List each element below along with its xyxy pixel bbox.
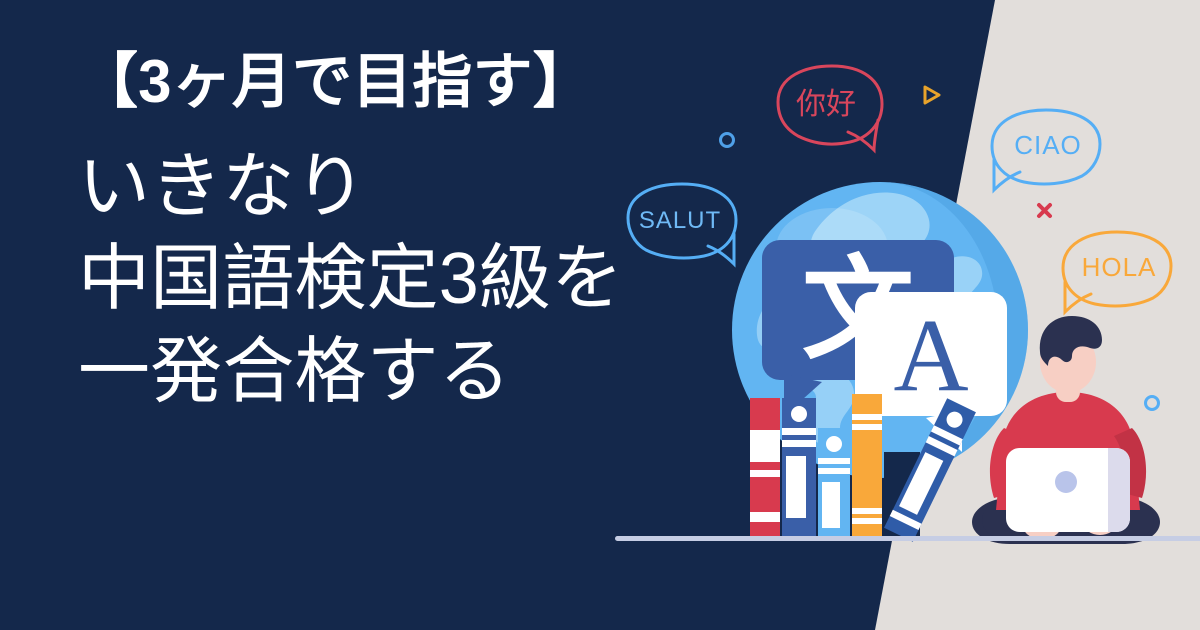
headline-kicker: 【3ヶ月で目指す】: [78, 48, 778, 115]
headline-line-1: いきなり: [78, 141, 778, 233]
triangle-yellow-icon: [925, 87, 939, 103]
cross-red-icon: [1039, 205, 1050, 216]
banner-canvas: 文 A: [0, 0, 1200, 630]
headline-line-3: 一発合格する: [78, 326, 778, 418]
dot-circle-blue-right-icon: [1146, 397, 1159, 410]
headline-line-2: 中国語検定3級を: [78, 233, 778, 325]
headline-block: 【3ヶ月で目指す】 いきなり 中国語検定3級を 一発合格する: [78, 48, 778, 418]
